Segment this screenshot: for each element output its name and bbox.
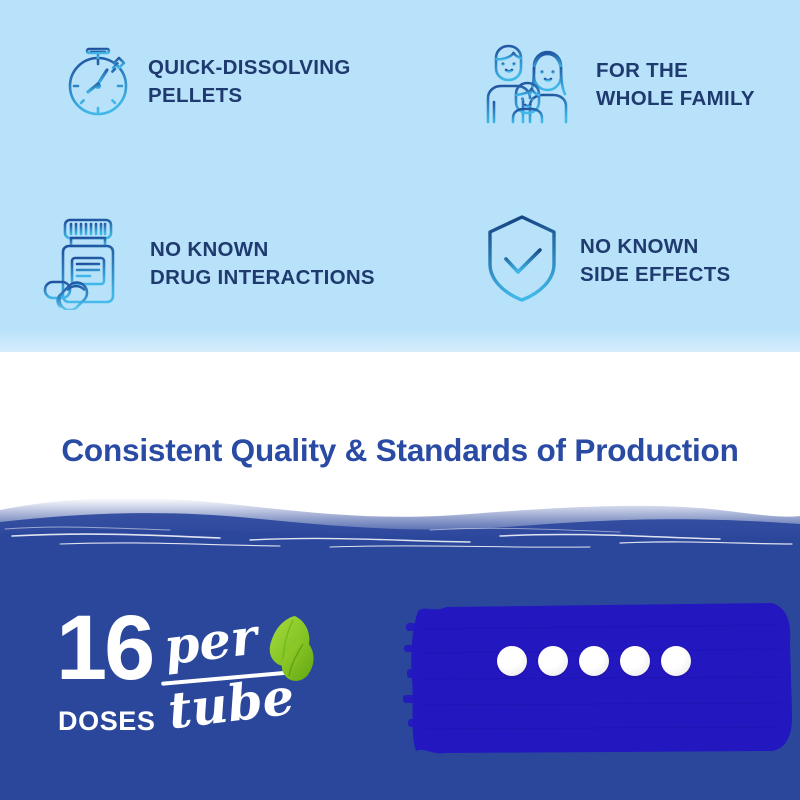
feature-label: NO KNOWN DRUG INTERACTIONS bbox=[150, 236, 375, 291]
dose-count: 16 bbox=[56, 602, 152, 694]
feature-quick-dissolving: QUICK-DISSOLVING PELLETS bbox=[48, 36, 351, 127]
feature-no-side-effects: NO KNOWN SIDE EFFECTS bbox=[482, 212, 731, 309]
pill-bottle-icon bbox=[40, 212, 132, 315]
shield-check-icon bbox=[482, 212, 562, 309]
pellet-row bbox=[497, 646, 691, 676]
pellet-icon bbox=[538, 646, 568, 676]
family-icon bbox=[482, 36, 578, 133]
mint-leaf-icon bbox=[253, 612, 323, 689]
pellet-icon bbox=[579, 646, 609, 676]
brush-swatch bbox=[400, 583, 800, 778]
feature-label: QUICK-DISSOLVING PELLETS bbox=[148, 54, 351, 109]
pellet-icon bbox=[497, 646, 527, 676]
product-infographic: QUICK-DISSOLVING PELLETS bbox=[0, 0, 800, 800]
page-title: Consistent Quality & Standards of Produc… bbox=[0, 432, 800, 469]
script-per: per bbox=[161, 607, 261, 677]
stopwatch-icon bbox=[48, 36, 130, 127]
dose-label: DOSES bbox=[58, 706, 156, 737]
pellet-icon bbox=[661, 646, 691, 676]
feature-label: NO KNOWN SIDE EFFECTS bbox=[580, 233, 731, 288]
feature-whole-family: FOR THE WHOLE FAMILY bbox=[482, 36, 755, 133]
feature-no-drug-interactions: NO KNOWN DRUG INTERACTIONS bbox=[40, 212, 375, 315]
features-panel: QUICK-DISSOLVING PELLETS bbox=[0, 0, 800, 352]
pellet-icon bbox=[620, 646, 650, 676]
dose-callout: 16 DOSES per tube bbox=[56, 610, 386, 750]
feature-label: FOR THE WHOLE FAMILY bbox=[596, 57, 755, 112]
